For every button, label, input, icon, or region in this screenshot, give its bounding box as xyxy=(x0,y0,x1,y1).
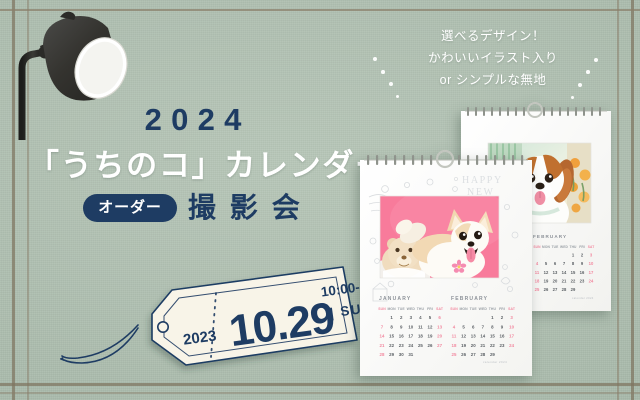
decor-dot xyxy=(396,95,399,98)
calendar-weekday-header: WED xyxy=(560,245,568,249)
calendar-day-cell: 10 xyxy=(589,261,594,266)
calendar-day-cell: 15 xyxy=(490,334,495,339)
calendar-day-cell: 22 xyxy=(389,343,394,348)
calendar-day-cell: 19 xyxy=(428,334,433,339)
calendar-day-cell: 11 xyxy=(418,324,423,329)
catchcopy: 選べるデザイン！ かわいいイラスト入り or シンプルな無地 xyxy=(398,26,588,92)
calendar-day-cell: 16 xyxy=(500,334,505,339)
calendar-day-cell: 28 xyxy=(562,287,567,292)
calendar-day-cell: 25 xyxy=(452,352,457,357)
calendar-weekday-header: WED xyxy=(479,307,488,311)
decor-dot xyxy=(594,58,598,62)
calendar-day-cell: 14 xyxy=(380,334,385,339)
calendar-day-cell: 11 xyxy=(452,334,457,339)
calendar-day-cell: 19 xyxy=(544,278,549,283)
calendar-weekday-header: SAT xyxy=(588,245,595,249)
calendar-weekday-header: SUN xyxy=(378,307,386,311)
headline-event-type: 撮 影 会 xyxy=(188,194,303,222)
calendar-day-cell: 13 xyxy=(471,334,476,339)
decor-dot xyxy=(571,96,574,99)
svg-text:calendar 2024: calendar 2024 xyxy=(572,296,594,300)
window-frame-horizontal-bottom xyxy=(0,383,640,386)
calendar-weekday-header: FRI xyxy=(499,307,505,311)
calendar-day-cell: 15 xyxy=(571,270,576,275)
calendar-day-cell: 20 xyxy=(553,278,558,283)
calendar-weekday-header: SAT xyxy=(508,307,516,311)
calendar-day-cell: 18 xyxy=(418,334,423,339)
calendar-weekday-header: TUE xyxy=(552,245,560,249)
calendar-month-label-february: FEBRUARY xyxy=(451,296,488,302)
calendar-day-cell: 10 xyxy=(509,324,514,329)
headline-block: 2024 「うちのコ」カレンダー オーダー 撮 影 会 xyxy=(28,104,358,222)
calendar-weekday-header: MON xyxy=(387,307,396,311)
promo-banner: 選べるデザイン！ かわいいイラスト入り or シンプルな無地 2024 「うちの… xyxy=(0,0,640,400)
calendar-weekday-header: FRI xyxy=(579,245,585,249)
window-frame-vertical-right xyxy=(631,0,634,400)
headline-subline: オーダー 撮 影 会 xyxy=(28,194,358,222)
decor-dot xyxy=(586,70,590,74)
greeting-line-1: HAPPY xyxy=(462,175,503,186)
calendar-day-cell: 20 xyxy=(437,334,442,339)
calendar-day-cell: 26 xyxy=(544,287,549,292)
window-frame-horizontal-bottom-inner xyxy=(0,392,640,394)
calendar-front: HAPPY NEW YEAR xyxy=(355,149,537,379)
calendar-day-cell: 17 xyxy=(509,334,514,339)
calendar-day-cell: 29 xyxy=(490,352,495,357)
calendar-weekday-header: MON xyxy=(459,307,468,311)
calendar-day-cell: 27 xyxy=(553,287,558,292)
decor-dot xyxy=(578,83,582,87)
calendar-day-cell: 21 xyxy=(380,343,385,348)
catchcopy-line-2: かわいいイラスト入り xyxy=(398,48,588,70)
calendar-front-photo xyxy=(380,185,510,281)
page-title-main: 「うちのコ」カレンダー xyxy=(28,150,358,181)
tag-string-icon xyxy=(60,325,138,363)
calendar-weekday-header: SAT xyxy=(436,307,444,311)
calendar-day-cell: 20 xyxy=(471,343,476,348)
calendar-back-month-label: FEBRUARY xyxy=(533,234,567,239)
calendar-day-cell: 27 xyxy=(471,352,476,357)
decor-dot xyxy=(389,82,393,86)
calendar-weekday-header: MON xyxy=(542,245,550,249)
calendar-day-cell: 21 xyxy=(480,343,485,348)
calendar-day-cell: 24 xyxy=(509,343,514,348)
calendar-day-cell: 13 xyxy=(437,324,442,329)
calendar-day-cell: 24 xyxy=(589,278,594,283)
calendar-day-cell: 23 xyxy=(399,343,404,348)
catchcopy-line-1: 選べるデザイン！ xyxy=(398,26,588,48)
calendar-day-cell: 14 xyxy=(480,334,485,339)
calendar-weekday-header: FRI xyxy=(427,307,433,311)
calendar-month-label-january: JANUARY xyxy=(379,296,411,302)
calendar-day-cell: 28 xyxy=(380,352,385,357)
calendar-day-cell: 12 xyxy=(428,324,433,329)
status-badge-order: オーダー xyxy=(83,194,177,222)
calendar-day-cell: 19 xyxy=(461,343,466,348)
calendar-day-cell: 30 xyxy=(399,352,404,357)
calendar-weekday-header: TUE xyxy=(398,307,406,311)
calendar-day-cell: 31 xyxy=(408,352,413,357)
calendar-day-cell: 12 xyxy=(461,334,466,339)
calendar-weekday-header: THU xyxy=(569,245,577,249)
tag-eyelet-icon xyxy=(158,322,168,332)
calendar-day-cell: 27 xyxy=(437,343,442,348)
decor-dot xyxy=(381,70,385,74)
calendar-day-cell: 16 xyxy=(580,270,585,275)
decor-dot xyxy=(373,57,377,61)
calendar-day-cell: 18 xyxy=(452,343,457,348)
calendar-day-cell: 10 xyxy=(408,324,413,329)
calendar-day-cell: 12 xyxy=(544,270,549,275)
calendar-day-cell: 16 xyxy=(399,334,404,339)
date-tag: 2023 10.29 10:00-19:00 | SUN | xyxy=(60,262,360,382)
calendar-day-cell: 29 xyxy=(389,352,394,357)
calendar-day-cell: 28 xyxy=(480,352,485,357)
calendar-day-cell: 24 xyxy=(408,343,413,348)
calendar-day-cell: 26 xyxy=(428,343,433,348)
calendar-day-cell: 23 xyxy=(580,278,585,283)
calendar-weekday-header: THU xyxy=(417,307,425,311)
calendar-day-cell: 17 xyxy=(589,270,594,275)
calendar-day-cell: 29 xyxy=(571,287,576,292)
page-title-year: 2024 xyxy=(28,104,358,135)
calendar-day-cell: 15 xyxy=(389,334,394,339)
catchcopy-line-3: or シンプルな無地 xyxy=(398,70,588,92)
calendar-weekday-header: SUN xyxy=(450,307,458,311)
calendar-day-cell: 13 xyxy=(553,270,558,275)
svg-text:calendar 2024: calendar 2024 xyxy=(483,360,507,364)
calendar-day-cell: 22 xyxy=(490,343,495,348)
calendar-day-cell: 23 xyxy=(500,343,505,348)
calendar-day-cell: 25 xyxy=(418,343,423,348)
calendar-weekday-header: THU xyxy=(489,307,497,311)
calendar-day-cell: 22 xyxy=(571,278,576,283)
calendar-day-cell: 14 xyxy=(562,270,567,275)
window-frame-vertical-right-inner xyxy=(617,0,619,400)
calendar-weekday-header: WED xyxy=(407,307,416,311)
calendar-day-cell: 26 xyxy=(461,352,466,357)
calendar-day-cell: 21 xyxy=(562,278,567,283)
calendar-day-cell: 17 xyxy=(408,334,413,339)
calendar-weekday-header: TUE xyxy=(470,307,478,311)
